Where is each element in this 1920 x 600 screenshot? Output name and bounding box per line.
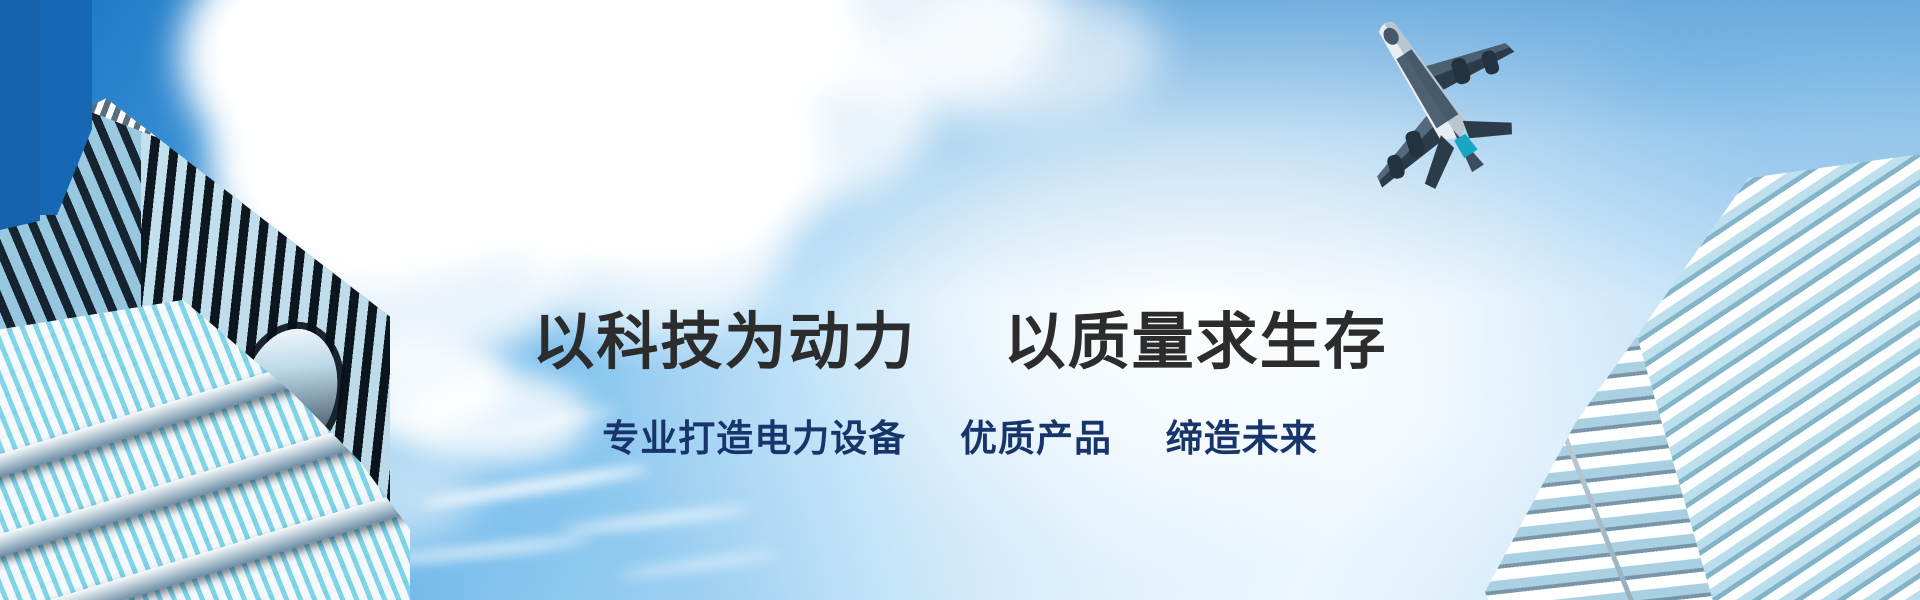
dark-blue-corner-block-edge [0,0,40,230]
page-title: 以科技为动力 以质量求生存 [0,311,1920,373]
subline-segment-1: 专业打造电力设备 [602,417,906,460]
page-subtitle: 专业打造电力设备 优质产品 缔造未来 [0,420,1920,457]
hero-banner: 以科技为动力 以质量求生存 专业打造电力设备 优质产品 缔造未来 [0,0,1920,600]
subline-segment-2: 优质产品 [960,417,1112,460]
headline-segment-1: 以科技为动力 [532,305,916,378]
headline-segment-2: 以质量求生存 [1004,305,1388,378]
airplane-icon [1330,5,1540,200]
subline-segment-3: 缔造未来 [1166,417,1318,460]
